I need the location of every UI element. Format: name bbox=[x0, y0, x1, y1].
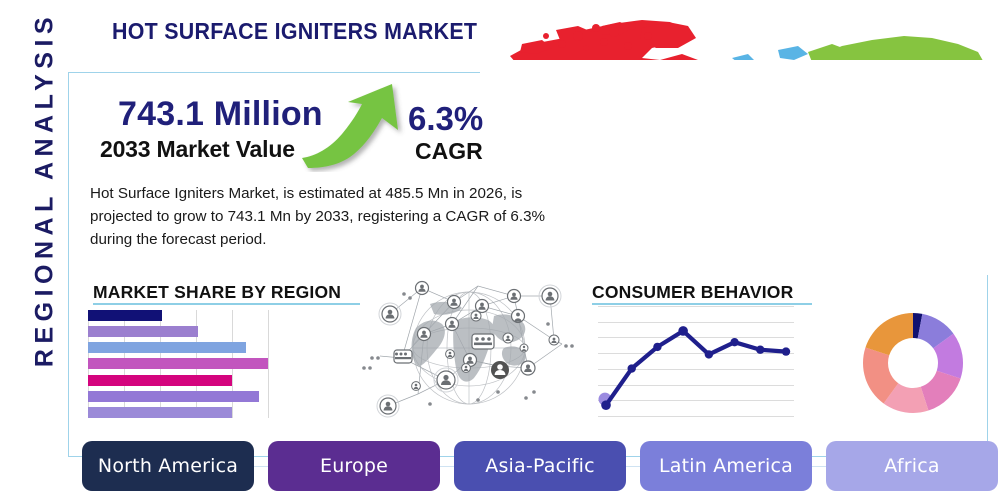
region-connector bbox=[626, 466, 640, 467]
market-share-bar-chart bbox=[88, 310, 268, 418]
region-button-africa[interactable]: Africa bbox=[826, 441, 998, 491]
bar-row bbox=[88, 358, 268, 369]
section-rule-consumer-behavior bbox=[592, 303, 812, 305]
user-node-icon bbox=[503, 333, 513, 343]
bar-row bbox=[88, 326, 268, 337]
network-globe-graphic bbox=[358, 272, 580, 422]
user-node-icon bbox=[491, 361, 509, 379]
user-node-icon bbox=[521, 361, 535, 375]
market-description: Hot Surface Igniters Market, is estimate… bbox=[90, 182, 570, 251]
bar-2 bbox=[88, 326, 198, 337]
bar-4 bbox=[88, 358, 268, 369]
side-label-regional-analysis: REGIONAL ANALYSIS bbox=[31, 0, 60, 390]
region-connector bbox=[812, 466, 826, 467]
cagr-number: 6.3% bbox=[408, 100, 483, 138]
bar-row bbox=[88, 407, 268, 418]
user-node-icon bbox=[379, 303, 401, 325]
bar-3 bbox=[88, 342, 246, 353]
section-title-market-share: MARKET SHARE BY REGION bbox=[93, 282, 341, 303]
user-node-icon bbox=[446, 318, 459, 331]
section-rule-market-share bbox=[93, 303, 360, 305]
user-node-icon bbox=[471, 311, 481, 321]
region-button-latin-america[interactable]: Latin America bbox=[640, 441, 812, 491]
line-marker-1 bbox=[601, 400, 611, 410]
bar-1 bbox=[88, 310, 162, 321]
section-title-consumer-behavior: CONSUMER BEHAVIOR bbox=[592, 282, 793, 303]
user-node-icon bbox=[446, 350, 455, 359]
line-marker-5 bbox=[705, 350, 713, 358]
consumer-behavior-line-chart bbox=[598, 306, 794, 416]
user-node-icon bbox=[512, 310, 525, 323]
region-connector bbox=[254, 466, 268, 467]
user-node-icon bbox=[416, 282, 429, 295]
donut-segment-7 bbox=[865, 313, 913, 355]
region-button-asia-pacific[interactable]: Asia-Pacific bbox=[454, 441, 626, 491]
user-node-icon bbox=[434, 368, 458, 392]
region-button-north-america[interactable]: North America bbox=[82, 441, 254, 491]
bar-7 bbox=[88, 407, 232, 418]
bar-row bbox=[88, 310, 268, 321]
building-node-icon bbox=[472, 334, 494, 349]
line-marker-7 bbox=[756, 346, 764, 354]
cagr-label: CAGR bbox=[415, 138, 483, 165]
user-node-icon bbox=[520, 344, 528, 352]
building-node-icon bbox=[394, 350, 412, 363]
user-node-icon bbox=[476, 300, 489, 313]
up-right-arrow-icon bbox=[300, 82, 410, 172]
line-marker-3 bbox=[653, 343, 661, 351]
market-value-number: 743.1 Million bbox=[118, 95, 323, 134]
bar-row bbox=[88, 342, 268, 353]
user-node-icon bbox=[412, 382, 421, 391]
user-node-icon bbox=[418, 328, 431, 341]
region-button-europe[interactable]: Europe bbox=[268, 441, 440, 491]
market-value-label: 2033 Market Value bbox=[100, 136, 295, 163]
page-title: HOT SURFACE IGNITERS MARKET bbox=[112, 18, 477, 45]
segment-donut-chart bbox=[858, 308, 968, 418]
bar-row bbox=[88, 391, 268, 402]
bar-5 bbox=[88, 375, 232, 386]
user-node-icon bbox=[549, 335, 559, 345]
region-button-group: North AmericaEuropeAsia-PacificLatin Ame… bbox=[82, 440, 990, 492]
line-marker-2 bbox=[628, 364, 636, 372]
line-marker-4 bbox=[678, 326, 688, 336]
user-node-icon bbox=[462, 364, 471, 373]
region-connector bbox=[440, 466, 454, 467]
bar-6 bbox=[88, 391, 259, 402]
line-marker-8 bbox=[782, 347, 790, 355]
bar-chart-rows bbox=[88, 310, 268, 418]
user-node-icon bbox=[448, 296, 461, 309]
user-node-icon bbox=[508, 290, 521, 303]
user-node-icon bbox=[539, 285, 561, 307]
bar-row bbox=[88, 375, 268, 386]
donut-segment-4 bbox=[921, 371, 961, 411]
line-marker-6 bbox=[730, 338, 738, 346]
user-node-icon bbox=[377, 395, 399, 417]
